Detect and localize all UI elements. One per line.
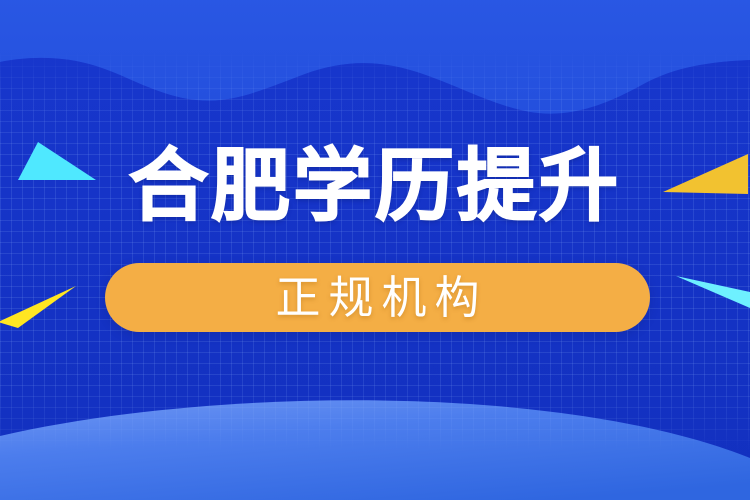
banner-content: 合肥学历提升 正规机构 [0,0,750,500]
promo-banner: 合肥学历提升 正规机构 [0,0,750,500]
banner-headline: 合肥学历提升 [0,146,750,225]
badge-pill[interactable]: 正规机构 [105,263,650,332]
badge-label: 正规机构 [267,275,487,320]
